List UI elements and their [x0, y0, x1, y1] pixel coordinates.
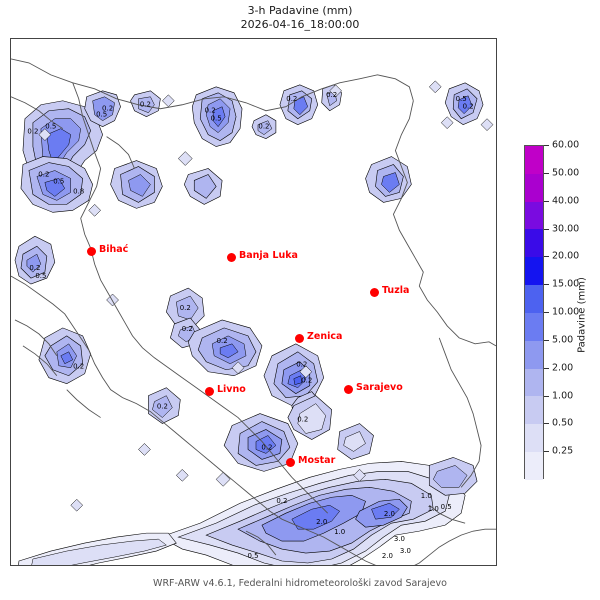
- colorbar-band-20: [525, 257, 543, 285]
- colorbar-tick-label: 0.25: [552, 446, 573, 457]
- colorbar-band-50: [525, 174, 543, 202]
- colorbar-tick-label: 15.00: [552, 279, 579, 290]
- map-canvas: 0.20.50.20.50.20.20.50.20.20.20.50.20.20…: [11, 39, 496, 565]
- city-label: Tuzla: [382, 285, 409, 296]
- contour-label: 0.2: [38, 170, 49, 178]
- city-dot-icon: [370, 288, 379, 297]
- colorbar-tick-label: 5.00: [552, 334, 573, 345]
- city-label: Bihać: [99, 244, 128, 255]
- contour-label: 0.2: [140, 101, 151, 109]
- colorbar-tick: [544, 284, 549, 285]
- contour-label: 1.0: [334, 528, 345, 536]
- colorbar-tick-label: 60.00: [552, 140, 579, 151]
- city-label: Mostar: [298, 455, 335, 466]
- precip-blobs-north: [85, 83, 483, 147]
- city-dot-icon: [344, 385, 353, 394]
- contour-label: 0.2: [301, 377, 312, 385]
- contour-label: 0.2: [326, 91, 337, 99]
- colorbar-tick: [544, 396, 549, 397]
- city-dot-icon: [205, 387, 214, 396]
- city-dot-icon: [227, 253, 236, 262]
- colorbar-band-0.5: [525, 424, 543, 452]
- contour-label: 0.5: [96, 111, 107, 119]
- colorbar-band-10: [525, 313, 543, 341]
- colorbar-tick-label: 50.00: [552, 167, 579, 178]
- colorbar-tick-label: 1.00: [552, 390, 573, 401]
- contour-label: 0.5: [211, 115, 222, 123]
- contour-label: 0.5: [35, 272, 46, 280]
- footer-credit: WRF-ARW v4.6.1, Federalni hidrometeorolo…: [0, 578, 600, 589]
- contour-label: 0.5: [45, 123, 56, 131]
- title-line-1: 3-h Padavine (mm): [0, 4, 600, 18]
- contour-label: 1.0: [421, 492, 432, 500]
- colorbar-tick-label: 20.00: [552, 251, 579, 262]
- contour-label: 0.2: [276, 497, 287, 505]
- colorbar-band-2: [525, 369, 543, 397]
- colorbar-tick: [544, 368, 549, 369]
- colorbar-tick: [544, 423, 549, 424]
- contour-label: 2.0: [382, 552, 393, 560]
- colorbar-band-40: [525, 202, 543, 230]
- contour-label: 0.2: [157, 403, 168, 411]
- title-line-2: 2026-04-16_18:00:00: [0, 18, 600, 32]
- contour-label: 1.0: [428, 505, 439, 513]
- colorbar-tick-label: 0.50: [552, 418, 573, 429]
- colorbar-tick-label: 40.00: [552, 195, 579, 206]
- contour-label: 0.2: [29, 264, 40, 272]
- contour-label: 3.0: [394, 535, 405, 543]
- colorbar-band-30: [525, 229, 543, 257]
- colorbar-axis-label: Padavine (mm): [577, 277, 588, 353]
- colorbar: 0.250.501.002.005.0010.0015.0020.0030.00…: [524, 145, 600, 485]
- city-label: Zenica: [307, 331, 342, 342]
- contour-label: 0.5: [53, 177, 64, 185]
- colorbar-tick: [544, 201, 549, 202]
- contour-label: 0.2: [73, 363, 84, 371]
- city-label: Banja Luka: [239, 250, 298, 261]
- contour-label: 0.2: [217, 337, 228, 345]
- colorbar-tick: [544, 256, 549, 257]
- contour-label: 0.2: [182, 325, 193, 333]
- colorbar-tick: [544, 312, 549, 313]
- city-label: Livno: [217, 384, 246, 395]
- contour-label: 2.0: [384, 510, 395, 518]
- contour-label: 0.2: [463, 103, 474, 111]
- contour-label: 0.2: [27, 128, 38, 136]
- colorbar-tick-label: 2.00: [552, 362, 573, 373]
- colorbar-tick: [544, 340, 549, 341]
- colorbar-tick-label: 10.00: [552, 307, 579, 318]
- contour-label: 3.0: [400, 547, 411, 555]
- contour-label: 0.5: [456, 95, 467, 103]
- colorbar-tick: [544, 145, 549, 146]
- city-label: Sarajevo: [356, 382, 403, 393]
- contour-label: 0.8: [73, 187, 84, 195]
- colorbar-tick: [544, 173, 549, 174]
- colorbar-tick: [544, 451, 549, 452]
- contour-label: 0.2: [296, 361, 307, 369]
- colorbar-band-1: [525, 396, 543, 424]
- colorbar-tick: [544, 229, 549, 230]
- map-plot-area: 0.20.50.20.50.20.20.50.20.20.20.50.20.20…: [10, 38, 497, 566]
- chart-title: 3-h Padavine (mm) 2026-04-16_18:00:00: [0, 4, 600, 32]
- city-dot-icon: [87, 247, 96, 256]
- contour-label: 0.5: [441, 503, 452, 511]
- colorbar-band-0.25: [525, 452, 543, 480]
- contour-label: 0.2: [261, 443, 272, 451]
- contour-label: 2.0: [316, 518, 327, 526]
- contour-label: 0.2: [205, 107, 216, 115]
- colorbar-gradient: [524, 145, 544, 479]
- contour-label: 0.2: [297, 416, 308, 424]
- contour-label: 0.2: [180, 304, 191, 312]
- colorbar-band-60: [525, 146, 543, 174]
- colorbar-band-15: [525, 285, 543, 313]
- city-dot-icon: [295, 334, 304, 343]
- colorbar-tick-label: 30.00: [552, 223, 579, 234]
- contour-label: 0.2: [286, 95, 297, 103]
- contour-label: 0.5: [247, 552, 258, 560]
- colorbar-band-5: [525, 341, 543, 369]
- contour-label: 0.2: [258, 123, 269, 131]
- precip-blobs-west: [15, 236, 91, 383]
- city-dot-icon: [286, 458, 295, 467]
